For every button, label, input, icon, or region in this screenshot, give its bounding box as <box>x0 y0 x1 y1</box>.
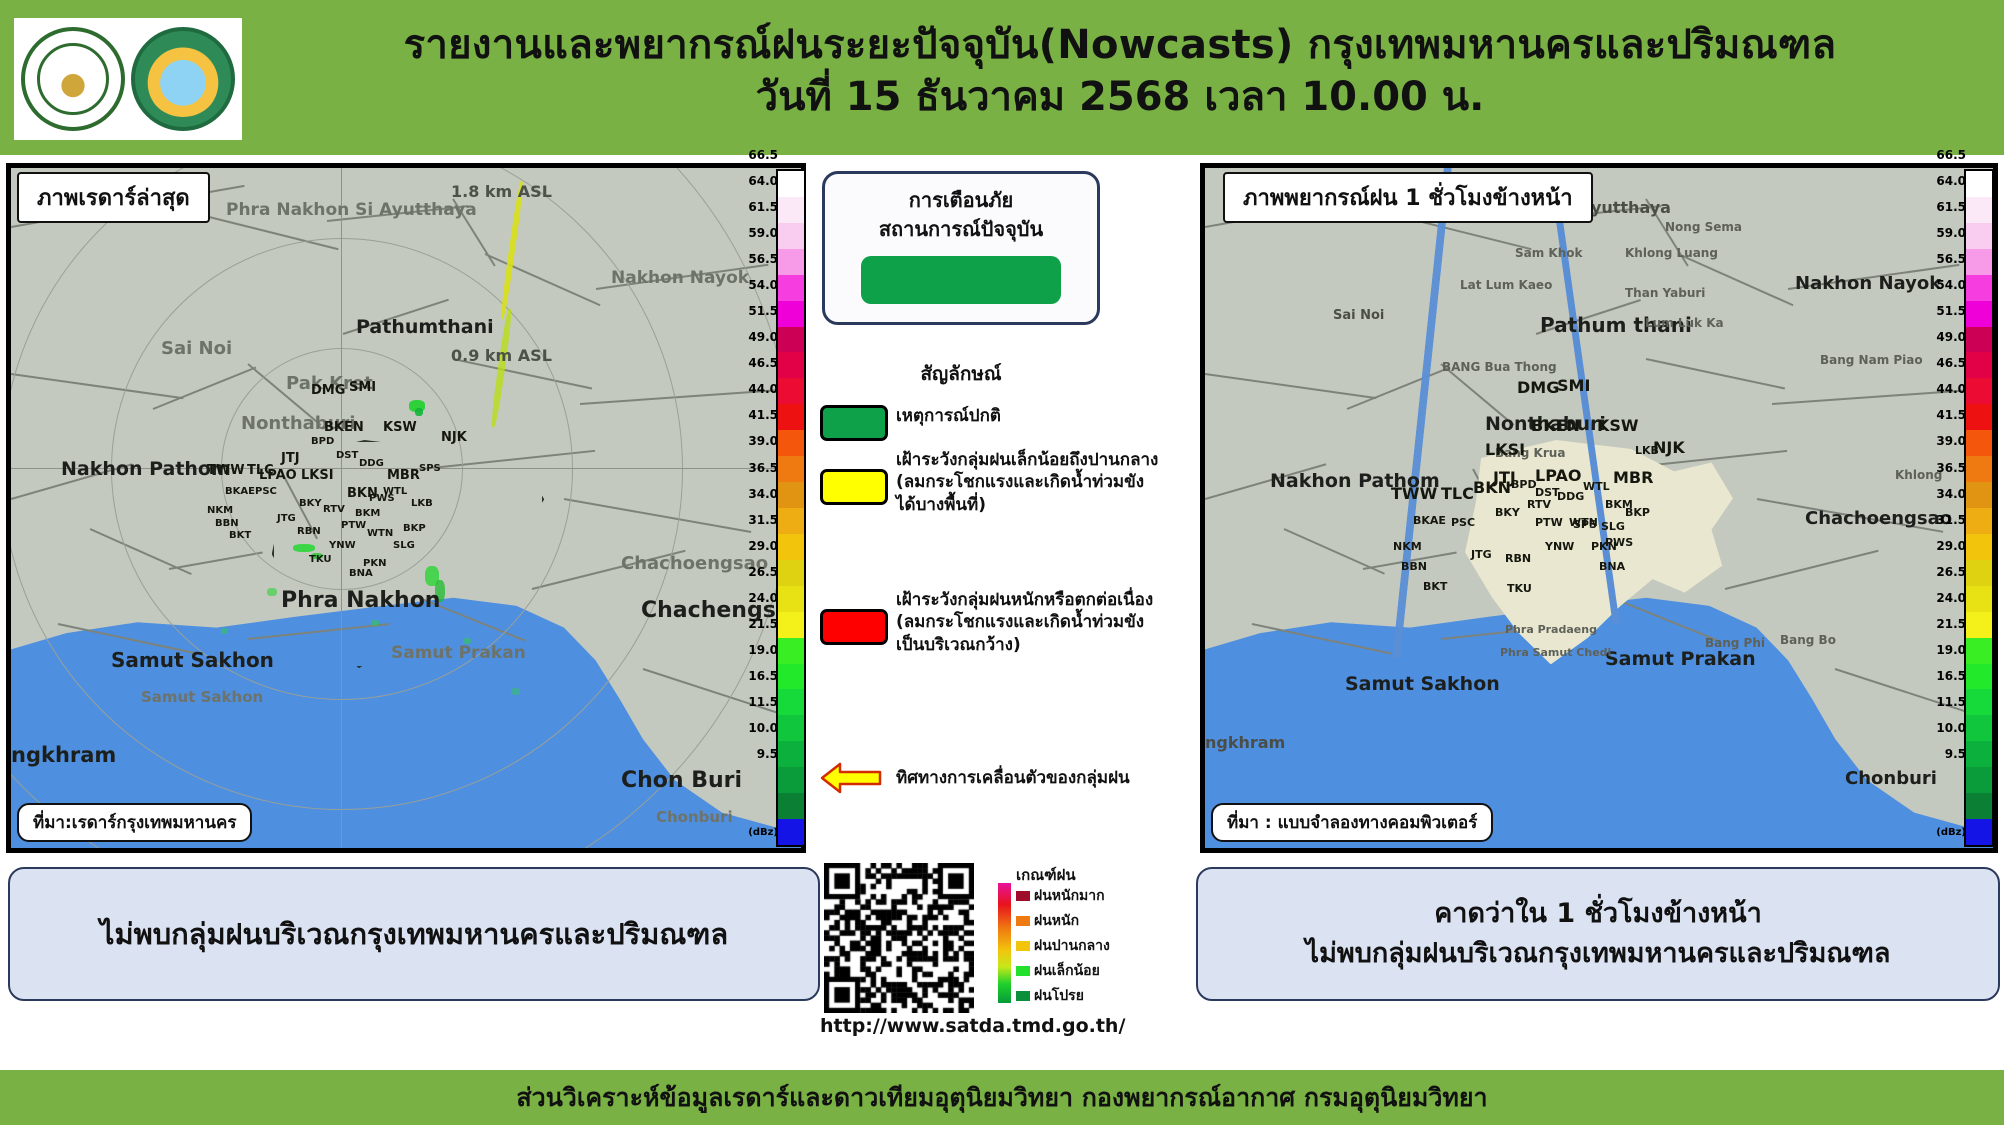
district-code-label: SLG <box>1601 520 1625 533</box>
district-code-label: BKT <box>1423 580 1447 593</box>
radar-echo <box>371 620 379 626</box>
colorbar-segment <box>1966 378 1992 404</box>
district-code-label: KSW <box>383 420 417 435</box>
colorbar-segment <box>778 223 804 249</box>
colorbar-tick: 49.0 <box>1930 330 1966 344</box>
colorbar-tick: 59.0 <box>1930 226 1966 240</box>
district-code-label: TLC <box>1441 484 1474 503</box>
royal-seal-icon <box>21 27 125 131</box>
district-code-label: WTN <box>367 528 393 539</box>
district-code-label: RTV <box>323 504 345 515</box>
district-code-label: JTG <box>277 513 296 524</box>
colorbar-tick: 46.5 <box>1930 356 1966 370</box>
rain-criteria-chip <box>1016 941 1030 951</box>
colorbar-segment <box>1966 249 1992 275</box>
colorbar-segment <box>778 508 804 534</box>
district-code-label: DMG <box>1517 378 1559 397</box>
forecast-summary-line-2: ไม่พบกลุ่มฝนบริเวณกรุงเทพมหานครและปริมณฑ… <box>1306 934 1891 975</box>
legend-label: เฝ้าระวังกลุ่มฝนเล็กน้อยถึงปานกลาง(ลมกระ… <box>896 449 1194 516</box>
colorbar-tick: 44.0 <box>1930 382 1966 396</box>
colorbar-segment <box>778 197 804 223</box>
colorbar-tick: 41.5 <box>742 408 778 422</box>
radar-echo <box>511 688 520 695</box>
colorbar-tick: 19.0 <box>1930 643 1966 657</box>
rain-criteria-chip <box>1016 991 1030 1001</box>
warning-title-line-2: สถานการณ์ปัจจุบัน <box>825 215 1097 244</box>
district-code-label: BNA <box>1599 560 1625 573</box>
colorbar-segment <box>1966 171 1992 197</box>
colorbar-unit: (dBz) <box>1930 827 1966 838</box>
colorbar-tick: 44.0 <box>742 382 778 396</box>
district-code-label: BKP <box>1625 506 1650 519</box>
district-code-label: LKB <box>411 498 433 509</box>
colorbar-tick: 61.5 <box>1930 200 1966 214</box>
colorbar-tick: 24.0 <box>742 591 778 605</box>
rain-criteria-title: เกณฑ์ฝน <box>1016 863 1194 887</box>
colorbar-segment <box>778 301 804 327</box>
district-code-label: BKP <box>403 523 426 534</box>
rain-criteria-item: ฝนเล็กน้อย <box>1016 960 1100 982</box>
district-code-label: NKM <box>207 505 233 516</box>
district-code-label: LKSI <box>301 468 334 483</box>
colorbar-segment <box>1966 301 1992 327</box>
status-badge <box>861 256 1061 304</box>
colorbar-tick: 11.5 <box>1930 695 1966 709</box>
colorbar-segment <box>1966 793 1992 819</box>
district-code-label: RTV <box>1527 498 1551 511</box>
colorbar-segment <box>1966 197 1992 223</box>
forecast-map-canvas: Suphan BuriPhra Nakhon Si AyutthayaNong … <box>1205 168 1993 848</box>
colorbar-tick: 61.5 <box>742 200 778 214</box>
colorbar-tick: 24.0 <box>1930 591 1966 605</box>
colorbar-segment <box>778 689 804 715</box>
colorbar-tick: 16.5 <box>742 669 778 683</box>
colorbar-tick: 39.0 <box>742 434 778 448</box>
district-code-label: BBN <box>215 518 239 529</box>
map-province-label: Saen Suk <box>581 848 691 853</box>
colorbar-segment <box>778 378 804 404</box>
qr-code[interactable] <box>824 863 974 1013</box>
content-stage: Suphan BuriPhra Nakhon Si AyutthayaNakho… <box>0 155 2004 1070</box>
colorbar-tick: 39.0 <box>1930 434 1966 448</box>
colorbar-tick: 9.5 <box>1930 747 1966 761</box>
district-code-label: LPAO <box>1535 466 1581 485</box>
colorbar-tick: 21.5 <box>1930 617 1966 631</box>
colorbar-tick: 34.0 <box>742 487 778 501</box>
colorbar-segment <box>778 767 804 793</box>
district-code-label: TWW <box>207 463 245 478</box>
colorbar-segment <box>778 327 804 353</box>
district-code-label: BKAE <box>225 486 255 497</box>
colorbar-tick: 46.5 <box>742 356 778 370</box>
radar-echo <box>267 588 277 596</box>
colorbar-segment <box>1966 689 1992 715</box>
district-code-label: SMI <box>349 380 376 395</box>
page-footer: ส่วนวิเคราะห์ข้อมูลเรดาร์และดาวเทียมอุตุ… <box>0 1070 2004 1125</box>
district-code-label: PWS <box>369 493 395 504</box>
radar-echo <box>293 544 315 552</box>
district-code-label: PSC <box>255 486 277 497</box>
district-code-label: BKAE <box>1413 514 1446 527</box>
radar-map-canvas: Suphan BuriPhra Nakhon Si AyutthayaNakho… <box>11 168 801 848</box>
colorbar-segment <box>778 171 804 197</box>
page-title: รายงานและพยากรณ์ฝนระยะปัจจุบัน(Nowcasts)… <box>250 22 1990 122</box>
warning-title-line-1: การเตือนภัย <box>825 186 1097 215</box>
radar-colorbar-right: 66.564.061.559.056.554.051.549.046.544.0… <box>1930 163 1998 853</box>
rain-criteria-label: ฝนหนักมาก <box>1034 888 1105 904</box>
district-code-label: WTN <box>1569 516 1598 529</box>
title-line-2: วันที่ 15 ธันวาคม 2568 เวลา 10.00 น. <box>250 73 1990 122</box>
district-code-label: BBN <box>1401 560 1427 573</box>
legend-color-swatch <box>820 469 888 505</box>
legend-title: สัญลักษณ์ <box>816 359 1106 389</box>
colorbar-tick: 64.0 <box>1930 174 1966 188</box>
radar-summary-box: ไม่พบกลุ่มฝนบริเวณกรุงเทพมหานครและปริมณฑ… <box>8 867 820 1001</box>
center-legend-column: การเตือนภัย สถานการณ์ปัจจุบัน สัญลักษณ์ … <box>816 163 1196 1063</box>
colorbar-tick: 29.0 <box>1930 539 1966 553</box>
forecast-summary-line-1: คาดว่าใน 1 ชั่วโมงข้างหน้า <box>1306 894 1891 935</box>
district-code-label: DST <box>336 450 358 461</box>
colorbar-segment <box>778 664 804 690</box>
colorbar-gradient-left <box>776 169 806 847</box>
colorbar-tick: 19.0 <box>742 643 778 657</box>
radar-echo <box>463 638 471 644</box>
rain-criteria-label: ฝนปานกลาง <box>1034 938 1110 954</box>
colorbar-segment <box>778 560 804 586</box>
colorbar-tick: 66.5 <box>742 148 778 162</box>
forecast-map-panel[interactable]: Suphan BuriPhra Nakhon Si AyutthayaNong … <box>1200 163 1998 853</box>
colorbar-segment <box>1966 508 1992 534</box>
colorbar-segment <box>1966 456 1992 482</box>
radar-echo <box>221 628 228 634</box>
district-code-label: SLG <box>393 540 415 551</box>
colorbar-tick: 51.5 <box>742 304 778 318</box>
colorbar-tick: 36.5 <box>742 461 778 475</box>
district-code-label: SPS <box>419 463 441 474</box>
forecast-map-source: ที่มา : แบบจำลองทางคอมพิวเตอร์ <box>1211 803 1493 842</box>
district-code-label: JTG <box>1471 548 1492 561</box>
colorbar-segment <box>1966 482 1992 508</box>
district-code-label: DDG <box>1557 490 1584 503</box>
legend-color-swatch <box>820 405 888 441</box>
colorbar-tick: 36.5 <box>1930 461 1966 475</box>
colorbar-segment <box>1966 715 1992 741</box>
colorbar-segment <box>778 482 804 508</box>
colorbar-tick: 54.0 <box>742 278 778 292</box>
qr-block: http://www.satda.tmd.go.th/ เกณฑ์ฝน ฝนหน… <box>824 863 1196 1059</box>
colorbar-segment <box>778 456 804 482</box>
district-code-label: MBR <box>1613 468 1653 487</box>
legend-color-swatch <box>820 609 888 645</box>
radar-range-ring <box>6 163 793 853</box>
district-code-label: WTL <box>1583 480 1610 493</box>
legend-label: ทิศทางการเคลื่อนตัวของกลุ่มฝน <box>896 767 1194 789</box>
colorbar-segment <box>1966 327 1992 353</box>
district-code-label: BNA <box>349 568 373 579</box>
colorbar-segment <box>778 638 804 664</box>
colorbar-ticks-left: 66.564.061.559.056.554.051.549.046.544.0… <box>742 169 778 847</box>
district-code-label: TLC <box>247 463 274 478</box>
colorbar-segment <box>778 793 804 819</box>
radar-echo <box>415 408 423 416</box>
tmd-seal-icon <box>131 27 235 131</box>
agency-logos <box>14 18 242 140</box>
colorbar-tick: 56.5 <box>1930 252 1966 266</box>
footer-text: ส่วนวิเคราะห์ข้อมูลเรดาร์และดาวเทียมอุตุ… <box>516 1078 1487 1118</box>
colorbar-segment <box>1966 534 1992 560</box>
page-header: รายงานและพยากรณ์ฝนระยะปัจจุบัน(Nowcasts)… <box>0 0 2004 155</box>
district-code-label: BKEN <box>1531 416 1580 435</box>
colorbar-tick: 26.5 <box>1930 565 1966 579</box>
colorbar-tick: 41.5 <box>1930 408 1966 422</box>
colorbar-segment <box>778 741 804 767</box>
district-code-label: BKT <box>229 530 251 541</box>
colorbar-segment <box>1966 638 1992 664</box>
colorbar-segment <box>1966 612 1992 638</box>
district-code-label: TWW <box>1391 484 1437 503</box>
rain-criteria-label: ฝนหนัก <box>1034 913 1079 929</box>
district-code-label: DMG <box>311 383 345 398</box>
district-code-label: MBR <box>387 468 420 483</box>
district-code-label: YNW <box>1545 540 1574 553</box>
colorbar-tick: 29.0 <box>742 539 778 553</box>
colorbar-segment <box>778 352 804 378</box>
colorbar-tick: 11.5 <box>742 695 778 709</box>
district-code-label: JTJ <box>281 451 300 466</box>
colorbar-segment <box>1966 586 1992 612</box>
colorbar-segment <box>778 586 804 612</box>
rain-criteria-item: ฝนหนัก <box>1016 910 1079 932</box>
colorbar-segment <box>778 275 804 301</box>
forecast-summary-box: คาดว่าใน 1 ชั่วโมงข้างหน้า ไม่พบกลุ่มฝนบ… <box>1196 867 2000 1001</box>
district-code-label: PTW <box>341 520 366 531</box>
colorbar-segment <box>1966 352 1992 378</box>
colorbar-tick: 10.0 <box>1930 721 1966 735</box>
radar-summary-text: ไม่พบกลุ่มฝนบริเวณกรุงเทพมหานครและปริมณฑ… <box>100 911 728 957</box>
colorbar-segment-bottom <box>1966 819 1992 845</box>
qr-url-label[interactable]: http://www.satda.tmd.go.th/ <box>820 1015 1140 1037</box>
colorbar-ticks-right: 66.564.061.559.056.554.051.549.046.544.0… <box>1930 169 1966 847</box>
district-code-label: BKY <box>1495 506 1520 519</box>
colorbar-segment <box>1966 741 1992 767</box>
rain-direction-arrow-icon <box>820 761 882 795</box>
colorbar-tick: 34.0 <box>1930 487 1966 501</box>
legend-label: เหตุการณ์ปกติ <box>896 405 1194 427</box>
colorbar-unit: (dBz) <box>742 827 778 838</box>
colorbar-segment <box>1966 560 1992 586</box>
colorbar-segment <box>778 249 804 275</box>
colorbar-tick: 10.0 <box>742 721 778 735</box>
district-code-label: RBN <box>297 526 321 537</box>
district-code-label: PTW <box>1535 516 1563 529</box>
rain-criteria-item: ฝนโปรย <box>1016 985 1084 1007</box>
colorbar-tick: 49.0 <box>742 330 778 344</box>
district-code-label: LKB <box>1635 444 1659 457</box>
forecast-map-caption: ภาพพยากรณ์ฝน 1 ชั่วโมงข้างหน้า <box>1223 172 1593 223</box>
rain-criteria-chip <box>1016 891 1030 901</box>
colorbar-segment <box>1966 767 1992 793</box>
colorbar-tick: 21.5 <box>742 617 778 631</box>
district-code-label: LKSI <box>1485 440 1525 459</box>
legend-label: เฝ้าระวังกลุ่มฝนหนักหรือตกต่อเนื่อง(ลมกร… <box>896 589 1194 656</box>
district-code-label: TKU <box>1507 582 1532 595</box>
rain-criteria-chip <box>1016 916 1030 926</box>
district-code-label: BKM <box>355 508 380 519</box>
district-code-label: KSW <box>1597 416 1639 435</box>
colorbar-segment <box>778 612 804 638</box>
colorbar-gradient-right <box>1964 169 1994 847</box>
colorbar-tick: 26.5 <box>742 565 778 579</box>
colorbar-tick: 31.5 <box>742 513 778 527</box>
district-code-label: DDG <box>359 458 384 469</box>
colorbar-segment <box>1966 223 1992 249</box>
colorbar-segment-bottom <box>778 819 804 845</box>
district-code-label: RBN <box>1505 552 1531 565</box>
district-code-label: NKM <box>1393 540 1422 553</box>
district-code-label: TKU <box>309 554 332 565</box>
colorbar-tick: 66.5 <box>1930 148 1966 162</box>
rain-criteria-label: ฝนโปรย <box>1034 988 1084 1004</box>
rain-criteria-legend: เกณฑ์ฝน ฝนหนักมากฝนหนักฝนปานกลางฝนเล็กน้… <box>994 863 1194 887</box>
district-code-label: NJK <box>441 430 467 445</box>
radar-map-source: ที่มา:เรดาร์กรุงเทพมหานคร <box>17 803 252 842</box>
rain-criteria-label: ฝนเล็กน้อย <box>1034 963 1100 979</box>
radar-map-caption: ภาพเรดาร์ล่าสุด <box>17 172 210 223</box>
rain-criteria-gradient <box>998 883 1011 1003</box>
district-code-label: BPD <box>1511 478 1537 491</box>
colorbar-tick: 54.0 <box>1930 278 1966 292</box>
colorbar-tick: 64.0 <box>742 174 778 188</box>
district-code-label: PKN <box>1591 540 1617 553</box>
colorbar-segment <box>778 430 804 456</box>
district-code-label: BPD <box>311 436 334 447</box>
colorbar-segment <box>1966 275 1992 301</box>
colorbar-segment <box>1966 664 1992 690</box>
colorbar-segment <box>778 715 804 741</box>
colorbar-tick: 59.0 <box>742 226 778 240</box>
colorbar-tick: 51.5 <box>1930 304 1966 318</box>
rain-criteria-chip <box>1016 966 1030 976</box>
rain-criteria-item: ฝนปานกลาง <box>1016 935 1110 957</box>
district-code-label: BKY <box>299 498 322 509</box>
district-code-label: BKEN <box>324 420 364 435</box>
warning-status-panel: การเตือนภัย สถานการณ์ปัจจุบัน <box>822 171 1100 325</box>
colorbar-segment <box>1966 404 1992 430</box>
colorbar-tick: 31.5 <box>1930 513 1966 527</box>
district-code-label: BKN <box>1473 478 1511 497</box>
title-line-1: รายงานและพยากรณ์ฝนระยะปัจจุบัน(Nowcasts)… <box>250 22 1990 69</box>
colorbar-segment <box>1966 430 1992 456</box>
radar-colorbar-left: 66.564.061.559.056.554.051.549.046.544.0… <box>742 163 810 853</box>
colorbar-tick: 16.5 <box>1930 669 1966 683</box>
colorbar-segment <box>778 534 804 560</box>
colorbar-tick: 9.5 <box>742 747 778 761</box>
district-code-label: SMI <box>1557 376 1590 395</box>
colorbar-tick: 56.5 <box>742 252 778 266</box>
district-code-label: PSC <box>1451 516 1475 529</box>
district-code-label: YNW <box>329 540 356 551</box>
radar-echo <box>435 580 445 602</box>
colorbar-segment <box>778 404 804 430</box>
radar-map-panel[interactable]: Suphan BuriPhra Nakhon Si AyutthayaNakho… <box>6 163 806 853</box>
rain-criteria-item: ฝนหนักมาก <box>1016 885 1105 907</box>
